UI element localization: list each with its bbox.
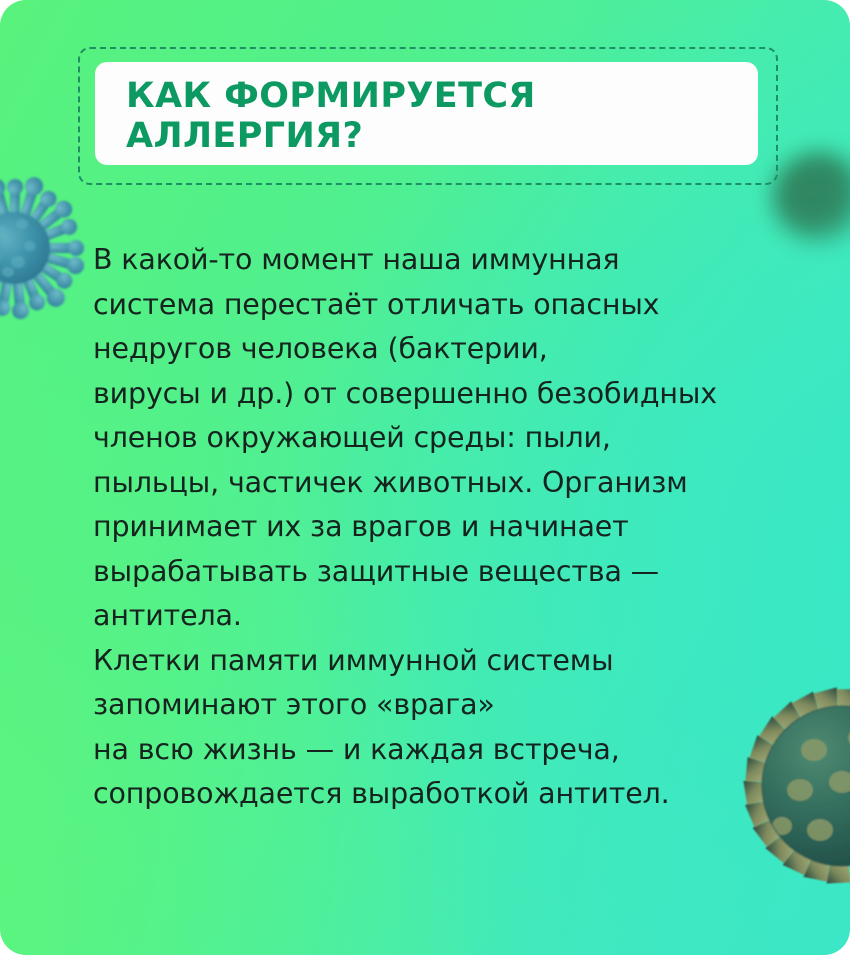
- page-title: КАК ФОРМИРУЕТСЯ АЛЛЕРГИЯ?: [126, 76, 732, 156]
- body-line: пыльцы, частичек животных. Организм: [93, 461, 793, 506]
- slide-canvas: КАК ФОРМИРУЕТСЯ АЛЛЕРГИЯ? В какой-то мом…: [0, 0, 850, 955]
- body-line: антитела.: [93, 594, 793, 639]
- title-card: КАК ФОРМИРУЕТСЯ АЛЛЕРГИЯ?: [95, 62, 758, 165]
- body-line: вырабатывать защитные вещества —: [93, 550, 793, 595]
- body-line: принимает их за врагов и начинает: [93, 505, 793, 550]
- body-line: запоминают этого «врага»: [93, 683, 793, 728]
- body-line: членов окружающей среды: пыли,: [93, 416, 793, 461]
- body-line: вирусы и др.) от совершенно безобидных: [93, 372, 793, 417]
- body-line: сопровождается выработкой антител.: [93, 772, 793, 817]
- virus-particle-blue-icon: [0, 158, 88, 338]
- body-line: на всю жизнь — и каждая встреча,: [93, 728, 793, 773]
- body-copy: В какой-то момент наша иммунная система …: [93, 238, 793, 817]
- body-line: Клетки памяти иммунной системы: [93, 639, 793, 684]
- virus-blurred-icon: [772, 152, 850, 244]
- body-line: система перестаёт отличать опасных: [93, 283, 793, 328]
- body-line: недругов человека (бактерии,: [93, 327, 793, 372]
- body-line: В какой-то момент наша иммунная: [93, 238, 793, 283]
